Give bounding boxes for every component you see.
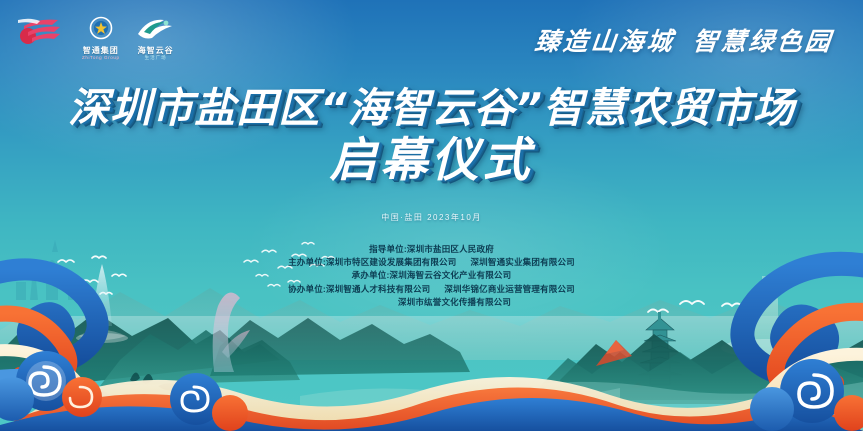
organizer-entity: 深圳华锦亿商业运营管理有限公司 [444, 284, 575, 294]
haizhi-swoosh-icon [136, 16, 176, 40]
organizer-entity: 深圳海智云谷文化产业有限公司 [390, 270, 512, 280]
organizer-entity: 深圳市特区建设发展集团有限公司 [326, 257, 457, 267]
sdg-logo-icon [14, 16, 66, 51]
logo-haizhi-sub: 生活广场 [145, 56, 167, 61]
slogan-part-2: 智慧绿色园 [691, 22, 835, 58]
poster-slogan: 臻造山海城 智慧绿色园 [533, 22, 835, 58]
organizer-entity: 深圳市盐田区人民政府 [407, 244, 494, 254]
haizhi-yungu-emblem-icon [136, 16, 176, 45]
logo-zhitong: 智通集团 ZhiTong Group [82, 16, 120, 61]
title-line-2: 启幕仪式 [0, 137, 863, 184]
logo-sdg [14, 16, 66, 53]
slogan-part-1: 臻造山海城 [533, 22, 677, 58]
sponsor-logo-bar: 智通集团 ZhiTong Group 海智云谷 生活广场 [14, 16, 176, 61]
organizer-row-4: 深圳市纮誉文化传播有限公司 [352, 296, 511, 309]
organizer-label: 主办单位: [288, 257, 326, 267]
organizer-label: 承办单位: [352, 270, 390, 280]
zhitong-circle-icon [89, 16, 113, 40]
poster-title: 深圳市盐田区“海智云谷”智慧农贸市场 启幕仪式 [0, 88, 863, 184]
center-wave-ribbons [0, 377, 863, 431]
logo-haizhi-yungu: 海智云谷 生活广场 [136, 16, 176, 61]
event-poster: 智通集团 ZhiTong Group 海智云谷 生活广场 臻造山海城 智慧绿色园… [0, 0, 863, 431]
organizer-list: 指导单位:深圳市盐田区人民政府 主办单位:深圳市特区建设发展集团有限公司深圳智通… [0, 243, 863, 309]
organizer-row-1: 主办单位:深圳市特区建设发展集团有限公司深圳智通实业集团有限公司 [288, 256, 575, 269]
organizer-entity: 深圳智通人才科技有限公司 [326, 284, 430, 294]
organizer-row-3: 协办单位:深圳智通人才科技有限公司深圳华锦亿商业运营管理有限公司 [288, 283, 575, 296]
zhitong-emblem-icon [89, 16, 113, 45]
organizer-row-0: 指导单位:深圳市盐田区人民政府 [369, 243, 494, 256]
organizer-label: 协办单位: [288, 284, 326, 294]
event-date-location: 中国·盐田 2023年10月 [0, 212, 863, 223]
organizer-entity: 深圳智通实业集团有限公司 [470, 257, 574, 267]
organizer-label: 指导单位: [369, 244, 407, 254]
title-line-1: 深圳市盐田区“海智云谷”智慧农贸市场 [0, 88, 863, 129]
logo-zhitong-en: ZhiTong Group [82, 56, 120, 61]
sdg-swoosh-icon [14, 16, 66, 46]
organizer-row-2: 承办单位:深圳海智云谷文化产业有限公司 [352, 269, 512, 282]
organizer-entity: 深圳市纮誉文化传播有限公司 [398, 297, 511, 307]
